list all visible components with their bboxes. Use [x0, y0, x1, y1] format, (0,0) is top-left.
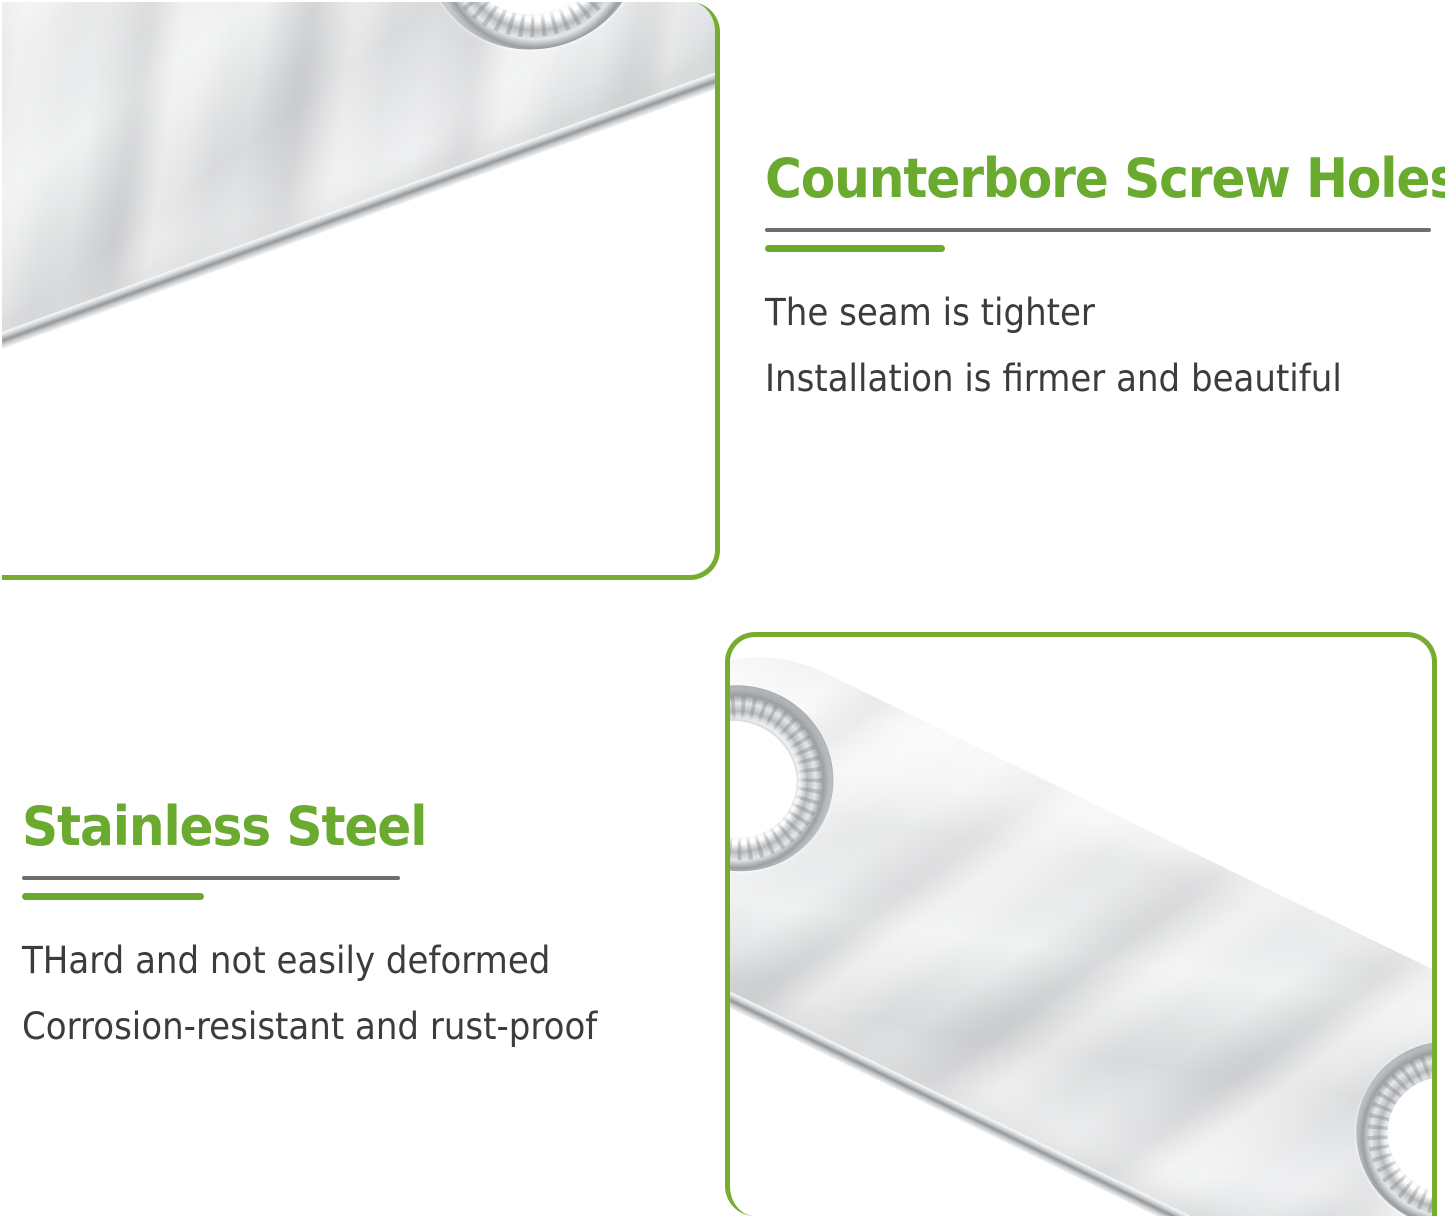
feature-title-counterbore: Counterbore Screw Holes	[765, 152, 1388, 206]
title-rule-gray	[765, 228, 1431, 232]
feature-lines-counterbore: The seam is tighter Installation is firm…	[765, 294, 1435, 397]
photo-panel-counterbore	[2, 2, 720, 580]
photo-panel-stainless	[725, 632, 1437, 1216]
title-rule-green	[22, 893, 204, 900]
title-rule-green	[765, 245, 945, 252]
feature-block-stainless: Stainless Steel THard and not easily def…	[22, 800, 702, 1045]
feature-line: Corrosion-resistant and rust-proof	[22, 1008, 648, 1045]
feature-block-counterbore: Counterbore Screw Holes The seam is tigh…	[765, 152, 1435, 397]
steel-plate-top	[2, 2, 720, 346]
feature-title-stainless: Stainless Steel	[22, 800, 654, 854]
feature-line: Installation is firmer and beautiful	[765, 360, 1381, 397]
feature-lines-stainless: THard and not easily deformed Corrosion-…	[22, 942, 702, 1045]
steel-plate-bottom	[725, 632, 1437, 1216]
title-rule-gray	[22, 876, 400, 880]
feature-line: The seam is tighter	[765, 294, 1381, 331]
plate-face	[725, 632, 1437, 1216]
feature-line: THard and not easily deformed	[22, 942, 648, 979]
